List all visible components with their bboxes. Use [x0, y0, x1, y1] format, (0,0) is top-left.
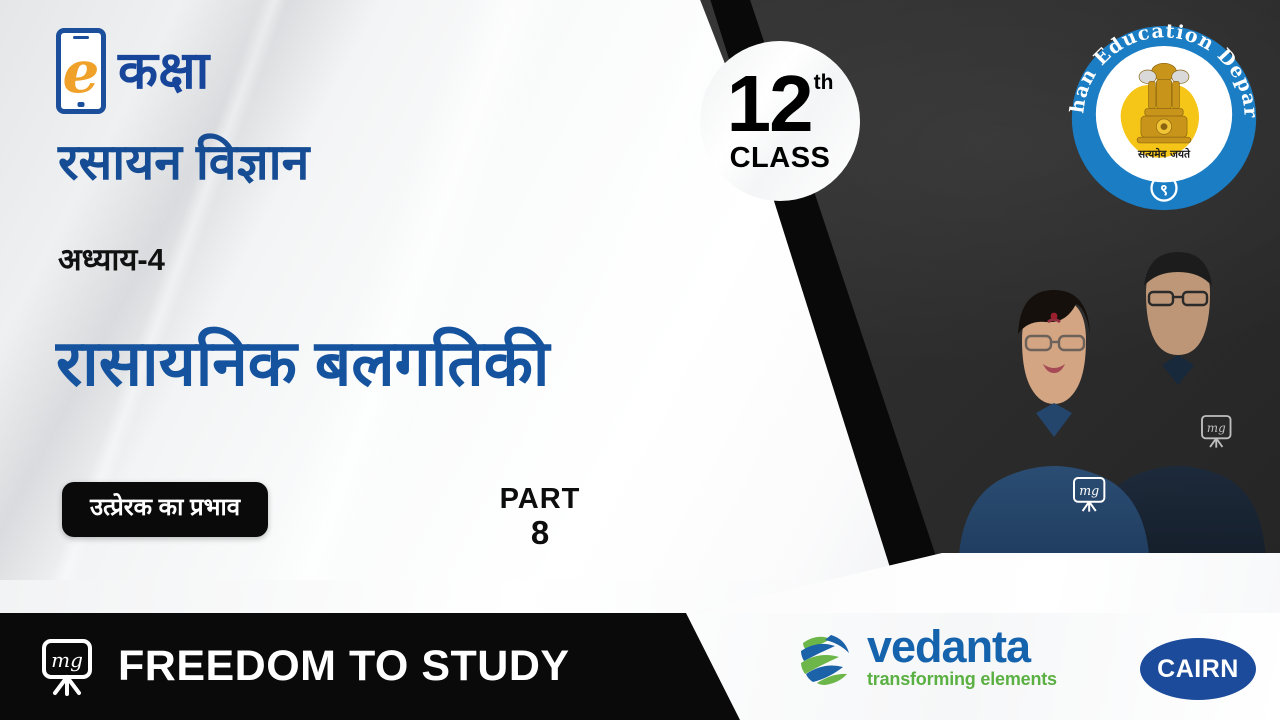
svg-text:सत्यमेव जयते: सत्यमेव जयते	[1137, 147, 1191, 160]
vedanta-name: vedanta	[867, 624, 1057, 669]
vedanta-logo: vedanta transforming elements	[795, 624, 1057, 688]
logo-word: कक्षा	[118, 45, 210, 97]
part-label: PART	[455, 484, 625, 514]
instructor-photos: mg mg	[940, 230, 1280, 580]
vedanta-globe-icon	[795, 625, 857, 687]
class-word: CLASS	[730, 142, 831, 175]
class-number-row: 12 th	[727, 68, 834, 140]
subject-title: रसायन विज्ञान	[58, 137, 309, 187]
svg-text:mg: mg	[1079, 483, 1099, 498]
svg-text:mg: mg	[1207, 421, 1226, 435]
svg-text:mg: mg	[51, 648, 83, 672]
part-indicator: PART 8	[455, 484, 625, 551]
footer-tagline: FREEDOM TO STUDY	[118, 642, 570, 691]
cairn-logo: CAIRN	[1140, 638, 1256, 700]
part-number: 8	[455, 516, 625, 551]
page-title: रासायनिक बलगतिकी	[56, 330, 550, 397]
vedanta-wordmark: vedanta transforming elements	[867, 624, 1057, 688]
mobile-phone-icon: e	[56, 28, 106, 114]
chapter-label: अध्याय-4	[58, 244, 165, 275]
title-slide: e कक्षा रसायन विज्ञान अध्याय-4 रासायनिक …	[0, 0, 1280, 720]
topic-badge: उत्प्रेरक का प्रभाव	[62, 482, 268, 537]
footer-banner: mg FREEDOM TO STUDY	[0, 613, 740, 720]
class-badge: 12 th CLASS	[700, 41, 860, 201]
class-number: 12	[727, 68, 812, 140]
logo-letter-e: e	[63, 43, 100, 101]
cairn-name: CAIRN	[1157, 655, 1239, 684]
mg-board-icon: mg	[38, 638, 98, 696]
vedanta-tagline: transforming elements	[867, 670, 1057, 688]
class-ordinal-suffix: th	[814, 74, 834, 93]
ekaksha-logo: e कक्षा	[56, 28, 210, 114]
rajasthan-education-department-emblem-icon: Rajasthan Education Department सत्यमेव ज…	[1068, 22, 1260, 214]
svg-text:९: ९	[1160, 181, 1168, 199]
